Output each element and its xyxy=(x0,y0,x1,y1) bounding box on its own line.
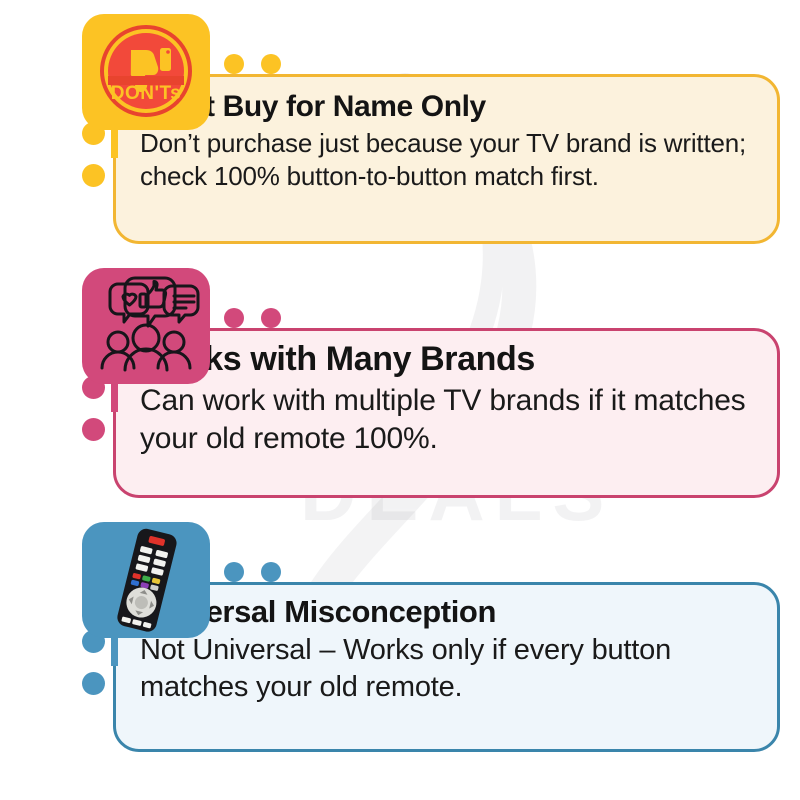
card-title-many-brands: Works with Many Brands xyxy=(140,341,753,378)
decorative-dot-top-a xyxy=(224,54,244,74)
donts-thumbs-down-badge-icon: DON'Ts xyxy=(82,14,210,130)
decorative-dot-top-a xyxy=(224,308,244,328)
icon-tile-universal-misconception xyxy=(82,522,210,638)
decorative-dot-left-b xyxy=(82,418,105,441)
infographic-root: DEALS Don’t Buy for Name Only Don’t purc… xyxy=(0,0,800,800)
decorative-dot-top-b xyxy=(261,54,281,74)
card-block-donts: Don’t Buy for Name Only Don’t purchase j… xyxy=(0,14,800,254)
card-title-donts: Don’t Buy for Name Only xyxy=(140,91,753,123)
decorative-dot-top-b xyxy=(261,308,281,328)
decorative-dot-top-b xyxy=(261,562,281,582)
card-donts: Don’t Buy for Name Only Don’t purchase j… xyxy=(113,74,780,244)
community-feedback-icon xyxy=(82,268,210,384)
card-block-universal-misconception: Universal Misconception Not Universal – … xyxy=(0,522,800,762)
card-many-brands: Works with Many Brands Can work with mul… xyxy=(113,328,780,498)
donts-badge-label: DON'Ts xyxy=(111,83,182,104)
card-body-donts: Don’t purchase just because your TV bran… xyxy=(140,127,753,193)
card-body-many-brands: Can work with multiple TV brands if it m… xyxy=(140,382,753,458)
decorative-dot-left-b xyxy=(82,672,105,695)
decorative-dot-top-a xyxy=(224,562,244,582)
icon-tile-many-brands xyxy=(82,268,210,384)
icon-tile-donts: DON'Ts xyxy=(82,14,210,130)
card-universal-misconception: Universal Misconception Not Universal – … xyxy=(113,582,780,752)
decorative-dot-left-b xyxy=(82,164,105,187)
card-block-many-brands: Works with Many Brands Can work with mul… xyxy=(0,268,800,508)
tv-remote-control-icon xyxy=(82,522,210,638)
card-title-universal-misconception: Universal Misconception xyxy=(140,595,753,628)
card-body-universal-misconception: Not Universal – Works only if every butt… xyxy=(140,632,753,705)
